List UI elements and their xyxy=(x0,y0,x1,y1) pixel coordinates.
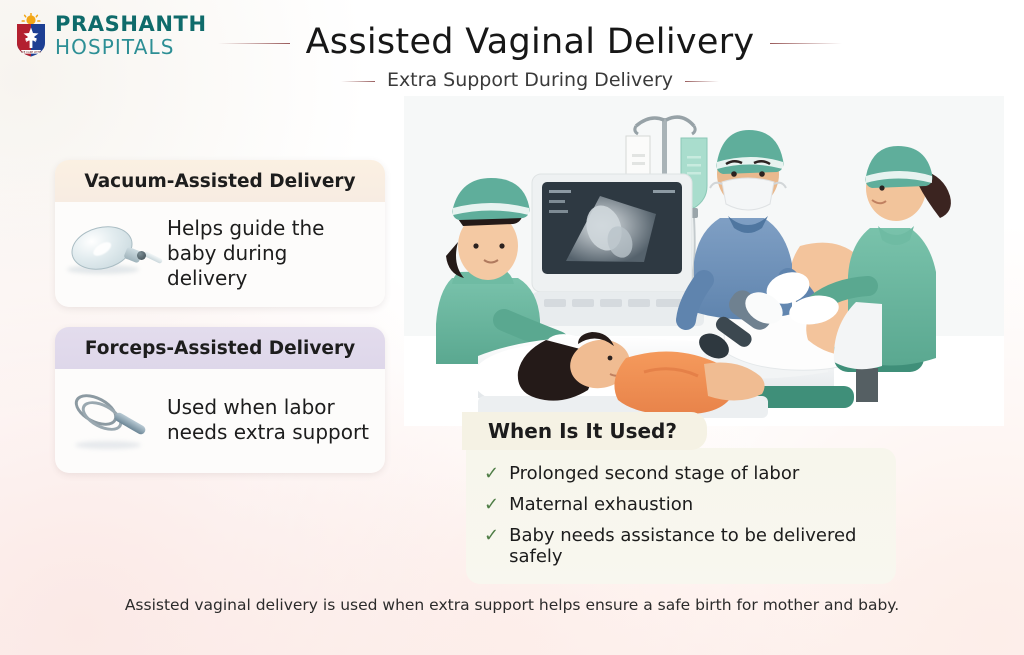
page-title: Assisted Vaginal Delivery xyxy=(306,22,755,62)
page-subtitle-text: Extra Support During Delivery xyxy=(387,69,673,91)
when-used-section: When Is It Used? ✓ Prolonged second stag… xyxy=(466,412,896,584)
subtitle-rule-right xyxy=(685,81,719,82)
page-subtitle: Extra Support During Delivery xyxy=(387,69,673,91)
check-mark-icon: ✓ xyxy=(484,494,499,515)
check-mark-icon: ✓ xyxy=(484,463,499,484)
footer-text: Assisted vaginal delivery is used when e… xyxy=(125,596,899,614)
when-used-item-text: Prolonged second stage of labor xyxy=(509,463,799,484)
when-used-item-text: Maternal exhaustion xyxy=(509,494,693,515)
shield-sun-star-logo-icon: WE CARE WITH xyxy=(14,13,48,57)
when-used-title: When Is It Used? xyxy=(462,412,707,450)
methods-panel: Vacuum-Assisted Delivery Helps guide the… xyxy=(55,160,385,493)
header: Assisted Vaginal Delivery Extra Support … xyxy=(200,22,860,91)
forceps-card-heading: Forceps-Assisted Delivery xyxy=(55,327,385,369)
delivery-room-scene-illustration xyxy=(404,96,1004,426)
list-item: ✓ Maternal exhaustion xyxy=(484,489,880,520)
brand-name-secondary: HOSPITALS xyxy=(55,37,207,57)
vacuum-card-heading: Vacuum-Assisted Delivery xyxy=(55,160,385,202)
forceps-card-body: Used when labor needs extra support xyxy=(55,369,385,473)
svg-text:WE CARE WITH: WE CARE WITH xyxy=(21,50,41,54)
vacuum-assisted-delivery-card: Vacuum-Assisted Delivery Helps guide the… xyxy=(55,160,385,307)
page-title-text: Assisted Vaginal Delivery xyxy=(306,22,755,62)
brand-name-primary: PRASHANTH xyxy=(55,14,207,35)
title-rule-left xyxy=(218,43,290,44)
forceps-assisted-delivery-card: Forceps-Assisted Delivery Used when labo… xyxy=(55,327,385,473)
brand-name: PRASHANTH HOSPITALS xyxy=(55,12,207,57)
vacuum-card-line-2: baby during delivery xyxy=(167,241,373,291)
forceps-card-line-1: Used when labor xyxy=(167,395,369,420)
footer: Assisted vaginal delivery is used when e… xyxy=(0,596,1024,615)
infographic-canvas: WE CARE WITH PRASHANTH HOSPITALS Assiste… xyxy=(0,0,1024,655)
brand-logo: WE CARE WITH PRASHANTH HOSPITALS xyxy=(14,12,207,57)
subtitle-rule-left xyxy=(341,81,375,82)
vacuum-card-line-1: Helps guide the xyxy=(167,216,373,241)
vacuum-card-body: Helps guide the baby during delivery xyxy=(55,202,385,307)
list-item: ✓ Baby needs assistance to be delivered … xyxy=(484,520,880,572)
list-item: ✓ Prolonged second stage of labor xyxy=(484,458,880,489)
ultrasound-monitor xyxy=(532,174,704,326)
forceps-card-line-2: needs extra support xyxy=(167,420,369,445)
when-used-list: ✓ Prolonged second stage of labor ✓ Mate… xyxy=(466,448,896,584)
vacuum-extractor-cup-icon xyxy=(65,217,161,291)
forceps-card-description: Used when labor needs extra support xyxy=(167,395,369,445)
title-rule-right xyxy=(770,43,842,44)
obstetric-forceps-icon xyxy=(65,383,161,457)
vacuum-card-description: Helps guide the baby during delivery xyxy=(167,216,373,291)
check-mark-icon: ✓ xyxy=(484,525,499,546)
when-used-item-text: Baby needs assistance to be delivered sa… xyxy=(509,525,880,567)
